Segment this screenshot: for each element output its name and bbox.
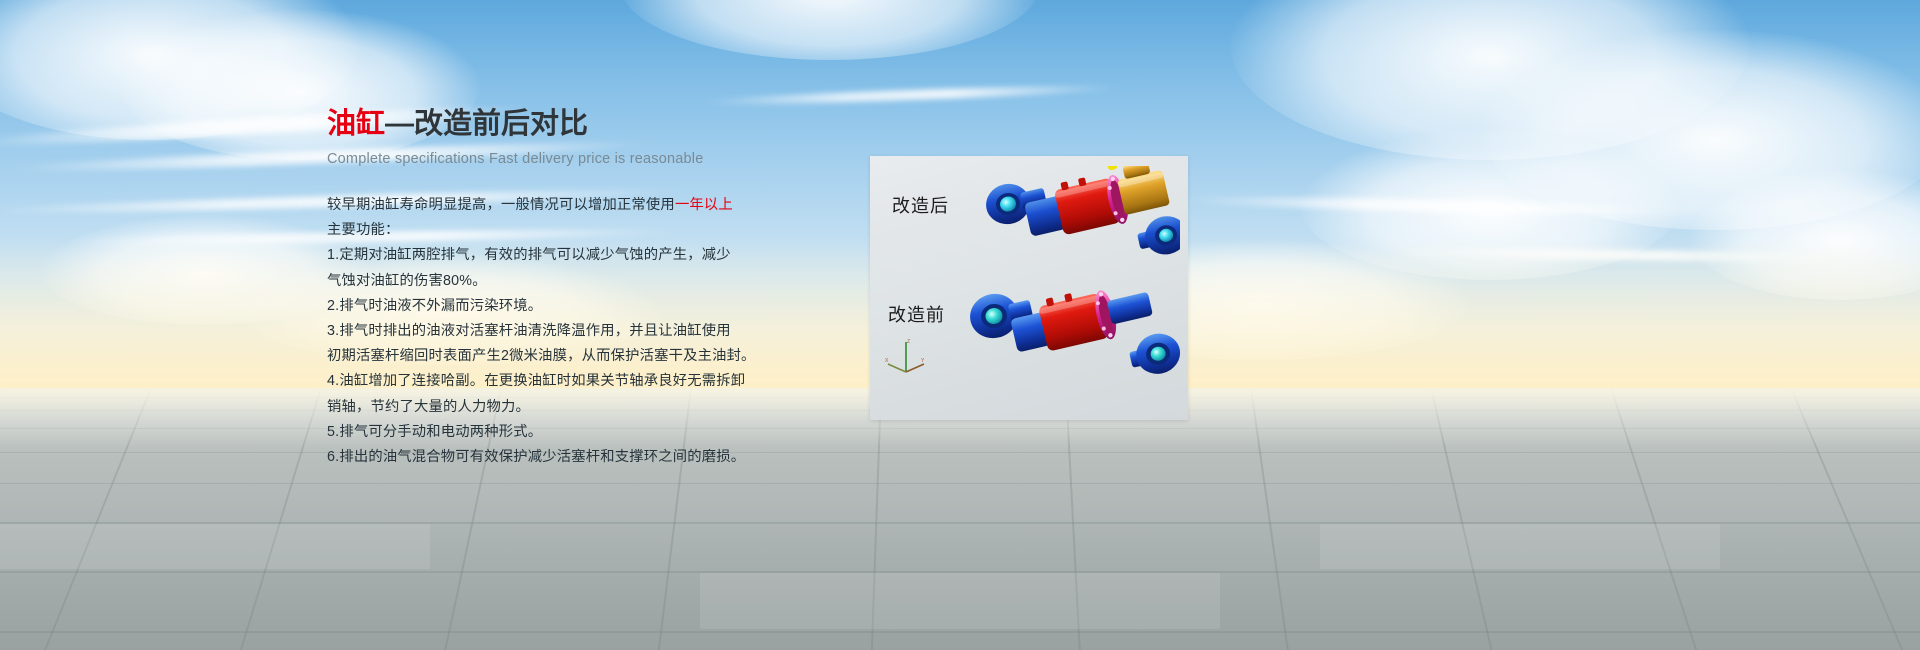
feature-line: 主要功能： — [327, 218, 867, 243]
cloud-shape — [1480, 30, 1920, 230]
comparison-image-panel: 改造后 改造前 Z X Y — [870, 156, 1188, 420]
svg-text:Z: Z — [907, 339, 910, 345]
cloud-shape — [1300, 130, 1680, 280]
feature-line-text: 较早期油缸寿命明显提高，一般情况可以增加正常使用 — [327, 197, 675, 213]
ground-pavement — [0, 388, 1920, 650]
feature-line: 较早期油缸寿命明显提高，一般情况可以增加正常使用一年以上 — [327, 193, 867, 218]
feature-line: 气蚀对油缸的伤害80%。 — [327, 269, 867, 294]
title-rest: —改造前后对比 — [385, 108, 588, 140]
page-subtitle: Complete specifications Fast delivery pr… — [327, 149, 867, 169]
feature-line: 4.油缸增加了连接哈副。在更换油缸时如果关节轴承良好无需拆卸 — [327, 369, 867, 394]
feature-line: 6.排出的油气混合物可有效保护减少活塞杆和支撑环之间的磨损。 — [327, 445, 867, 470]
cloud-wisp — [1380, 247, 1860, 264]
cylinder-after-modification — [968, 166, 1180, 286]
product-banner: 油缸—改造前后对比 Complete specifications Fast d… — [0, 0, 1920, 650]
cylinder-before-modification — [952, 276, 1182, 406]
svg-text:Y: Y — [921, 358, 925, 364]
feature-list: 较早期油缸寿命明显提高，一般情况可以增加正常使用一年以上 主要功能： 1.定期对… — [327, 193, 867, 470]
label-after-modification: 改造后 — [892, 192, 949, 218]
cloud-shape — [1690, 170, 1920, 300]
feature-line: 1.定期对油缸两腔排气，有效的排气可以减少气蚀的产生，减少 — [327, 243, 867, 268]
page-title: 油缸—改造前后对比 — [327, 105, 867, 143]
feature-line: 2.排气时油液不外漏而污染环境。 — [327, 294, 867, 319]
feature-line-highlight: 一年以上 — [675, 197, 733, 213]
title-highlight: 油缸 — [327, 108, 385, 140]
banner-text-block: 油缸—改造前后对比 Complete specifications Fast d… — [327, 105, 867, 470]
cloud-wisp — [1180, 194, 1700, 219]
feature-line: 3.排气时排出的油液对活塞杆油清洗降温作用，并且让油缸使用 — [327, 319, 867, 344]
cloud-shape — [620, 0, 1040, 60]
cloud-wisp — [700, 83, 1120, 108]
svg-text:X: X — [885, 358, 889, 364]
cloud-shape — [40, 215, 370, 325]
label-before-modification: 改造前 — [888, 301, 945, 327]
cloud-shape — [1230, 0, 1750, 160]
feature-line: 销轴，节约了大量的人力物力。 — [327, 395, 867, 420]
cloud-shape — [0, 0, 360, 140]
feature-line: 初期活塞杆缩回时表面产生2微米油膜，从而保护活塞干及主油封。 — [327, 344, 867, 369]
coordinate-axes-icon: Z X Y — [885, 338, 927, 376]
feature-line: 5.排气可分手动和电动两种形式。 — [327, 420, 867, 445]
